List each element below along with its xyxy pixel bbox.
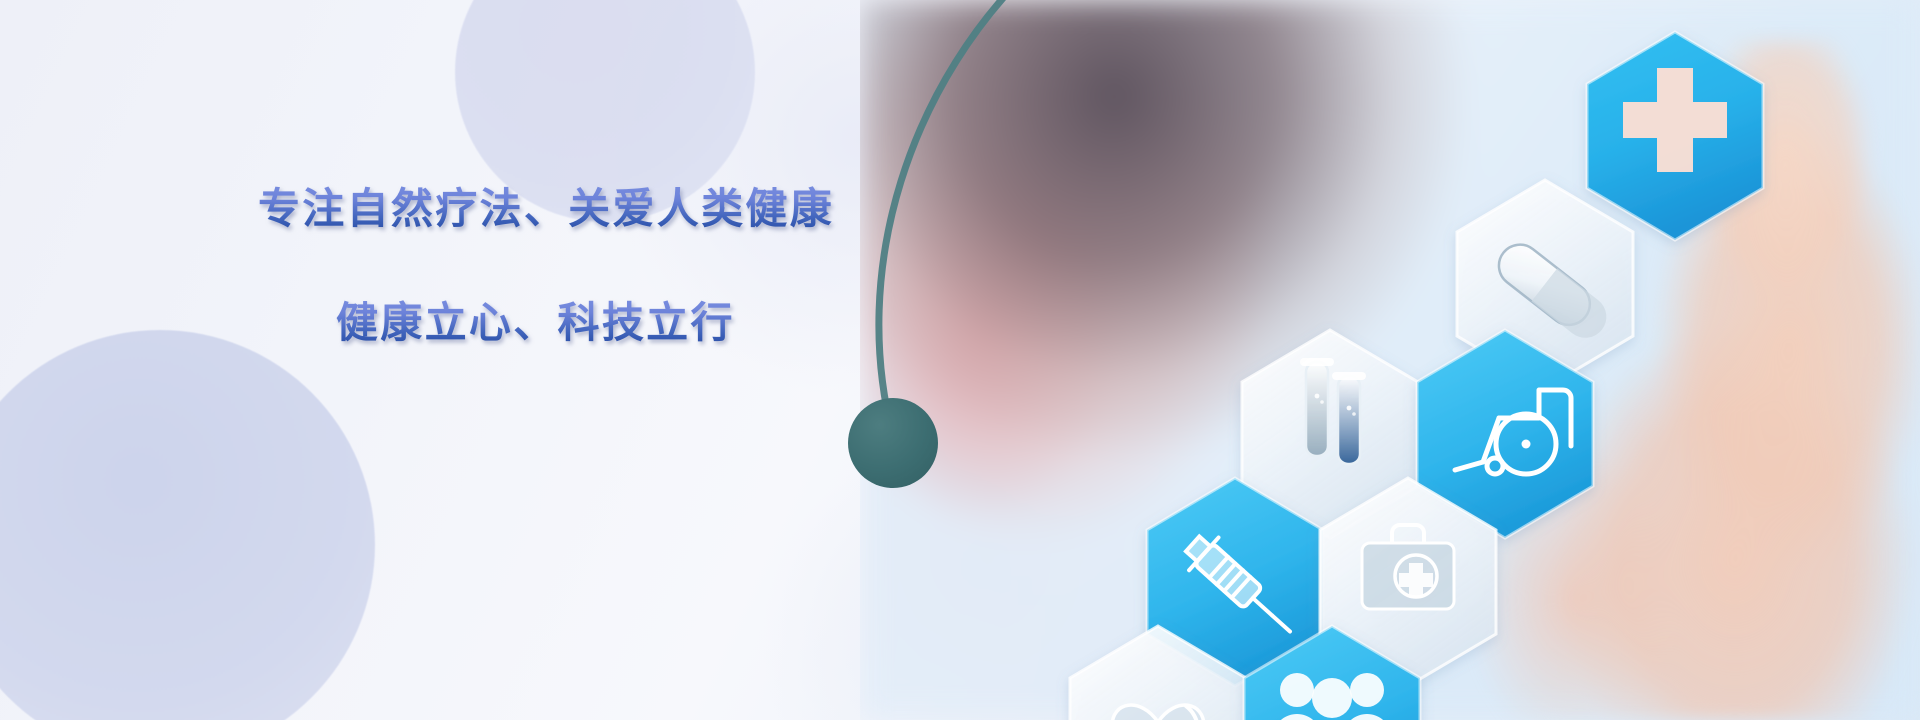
hand-gesture (1230, 40, 1920, 720)
lavender-circle-bottom-icon (0, 330, 375, 720)
teal-dot-icon (848, 398, 938, 488)
headline-line-2: 健康立心、科技立行 (336, 296, 878, 350)
healthcare-hero-banner: 专注自然疗法、关爱人类健康 健康立心、科技立行 (0, 0, 1920, 720)
page-title: 专注自然疗法、关爱人类健康 健康立心、科技立行 (258, 182, 878, 350)
headline-line-1: 专注自然疗法、关爱人类健康 (258, 182, 878, 236)
